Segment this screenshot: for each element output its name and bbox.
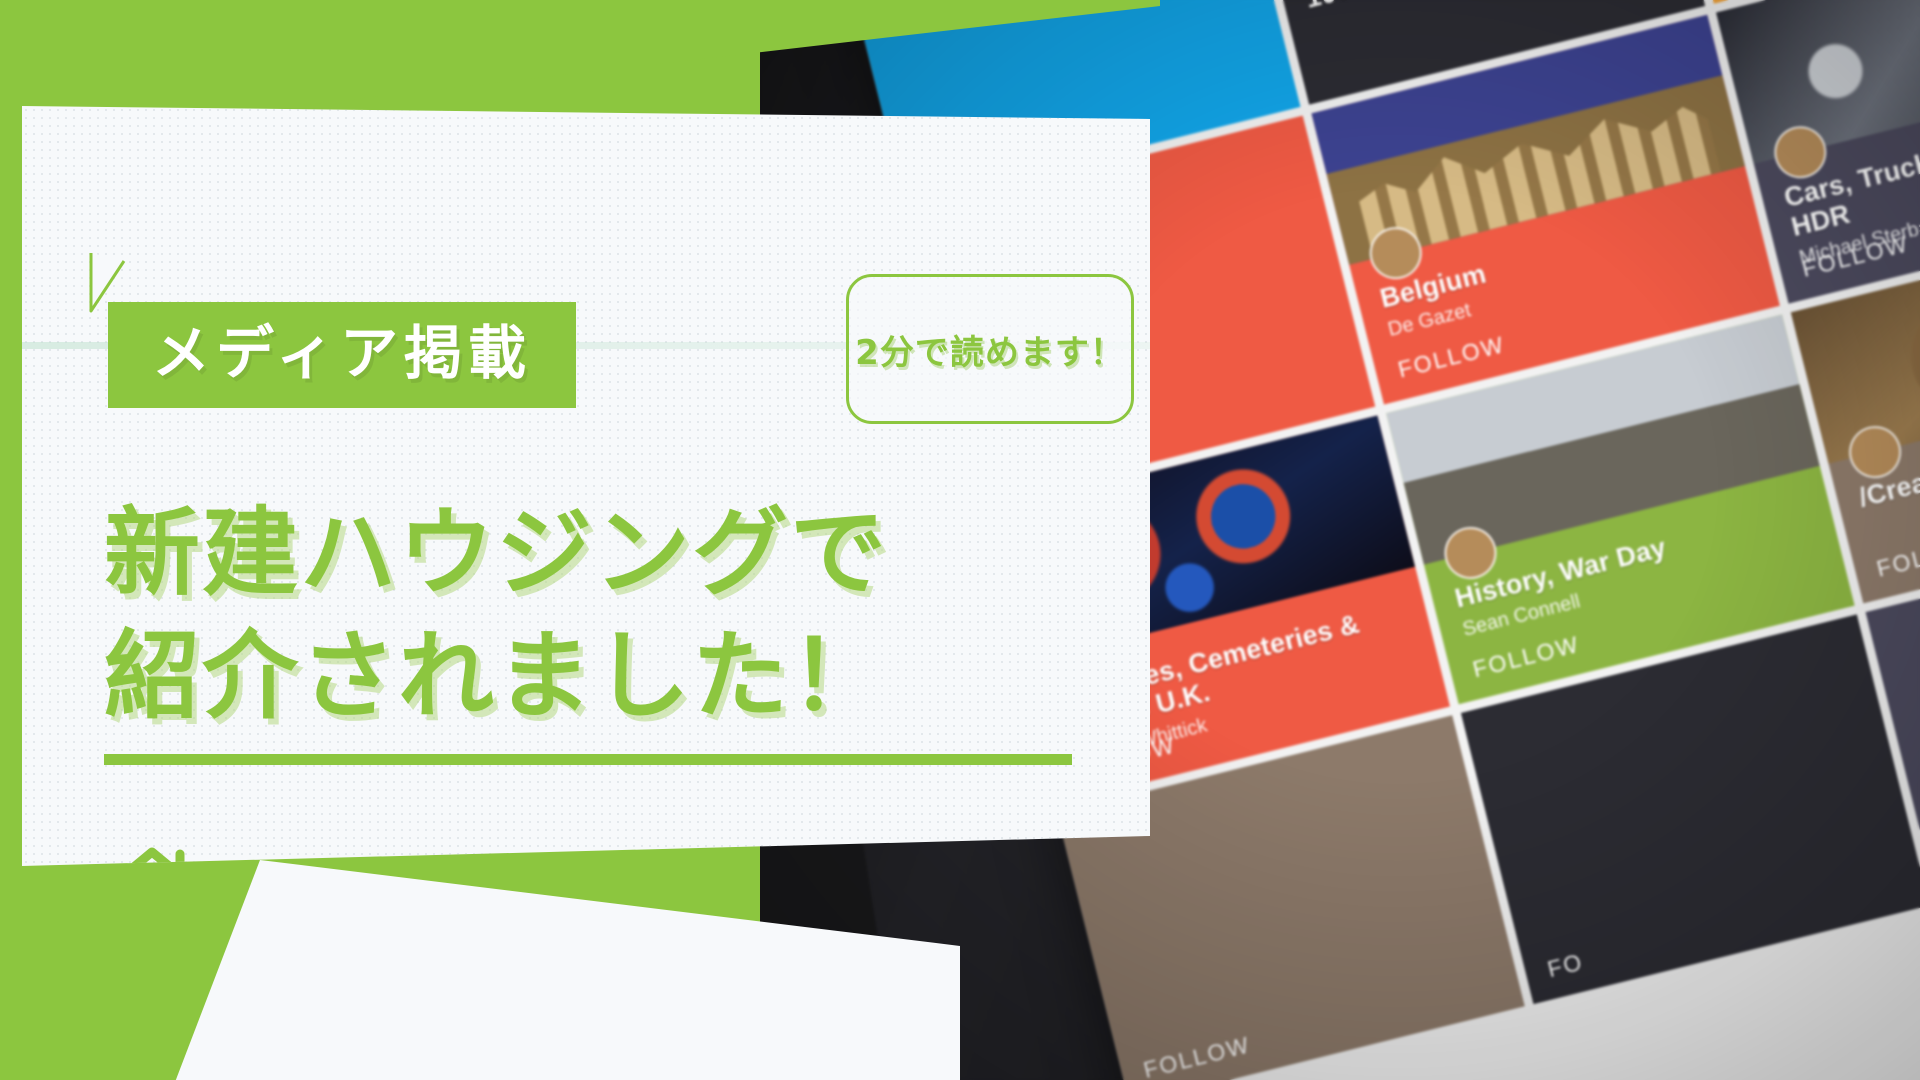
headline-underline <box>104 754 1072 765</box>
card-left-accent-strip <box>0 92 2 792</box>
media-badge: メディア掲載 <box>108 302 576 408</box>
reading-time-bubble: 2分で読めます！ <box>846 274 1134 424</box>
eyecatch-banner: 100.000 Followers! EXTRAORDINARY PEOPLE … <box>0 0 1920 1080</box>
reading-time-label: 2分で読めます！ <box>849 277 1131 421</box>
content-card: メディア掲載 2分で読めます！ 新建ハウジングで 紹介されました！ <box>22 106 1150 866</box>
headline-line-1: 新建ハウジングで <box>104 497 888 609</box>
bubble-tail-icon <box>88 253 128 315</box>
headline-line-2: 紹介されました！ <box>104 615 1064 738</box>
house-icon <box>100 844 204 936</box>
page-title: 新建ハウジングで 紹介されました！ <box>104 492 1064 738</box>
tile-title: 100.000 Followers! <box>1302 0 1662 14</box>
card-content: メディア掲載 2分で読めます！ 新建ハウジングで 紹介されました！ <box>22 106 1150 866</box>
